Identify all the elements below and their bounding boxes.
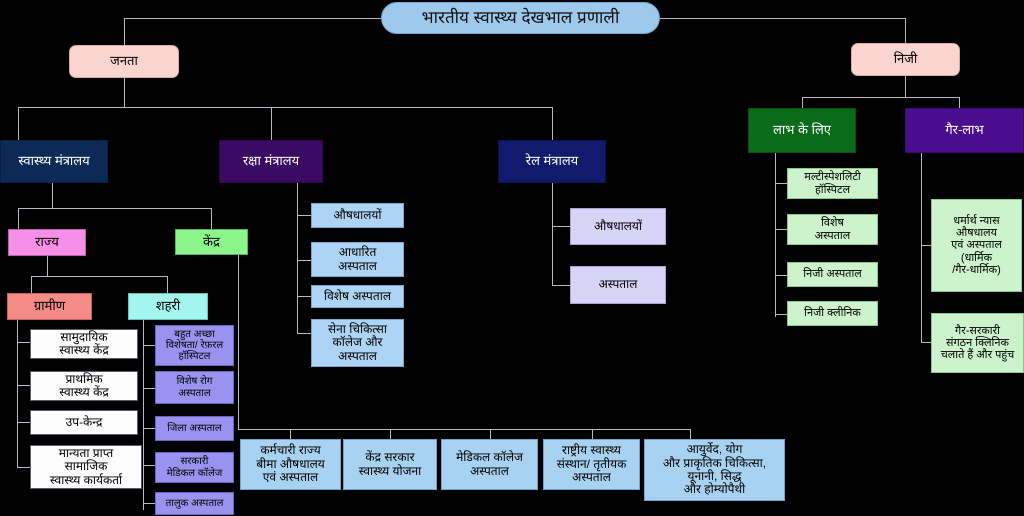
connector-centre-bottom-bus bbox=[238, 429, 690, 430]
for-profit-item-2[interactable]: विशेष अस्पताल bbox=[787, 214, 878, 245]
connector-bottom-to-item-3 bbox=[490, 429, 491, 439]
defence-item-3[interactable]: विशेष अस्पताल bbox=[311, 285, 404, 308]
connector-defence-stub-4 bbox=[297, 333, 311, 334]
connector-defence-stub-3 bbox=[297, 296, 311, 297]
connector-private-down bbox=[905, 76, 906, 97]
connector-state-bus bbox=[31, 276, 167, 277]
connector-root-left bbox=[124, 18, 381, 19]
non-profit-item-2[interactable]: गैर-सरकारी संगठन क्लिनिक चलाते हैं और पह… bbox=[931, 313, 1024, 373]
diagram-canvas: भारतीय स्वास्थ्य देखभाल प्रणाली जनता निज… bbox=[0, 0, 1024, 516]
for-profit-item-4[interactable]: निजी क्लीनिक bbox=[787, 301, 878, 326]
urban-item-1[interactable]: बहुत अच्छा विशेषता/ रेफ़रल हॉस्पिटल bbox=[155, 325, 234, 366]
connector-bottom-to-item-2 bbox=[390, 429, 391, 439]
connector-railway-stub-2 bbox=[552, 285, 570, 286]
urban-item-5[interactable]: तालुक अस्पताल bbox=[155, 492, 234, 515]
connector-rural-stub-2 bbox=[17, 385, 30, 386]
railway-item-2[interactable]: अस्पताल bbox=[570, 266, 666, 304]
connector-railway-trunk bbox=[552, 183, 553, 285]
for-profit-item-1[interactable]: मल्टीस्पेशलिटी हॉस्पिटल bbox=[787, 168, 878, 199]
rural-item-1[interactable]: सामुदायिक स्वास्थ्य केंद्र bbox=[30, 329, 138, 359]
connector-defence-stub-2 bbox=[297, 260, 311, 261]
connector-urban-stub-3 bbox=[143, 428, 155, 429]
connector-root-to-public bbox=[124, 18, 125, 45]
private-for-profit[interactable]: लाभ के लिए bbox=[748, 108, 856, 153]
centre-item-1[interactable]: कर्मचारी राज्य बीमा औषधालय एवं अस्पताल bbox=[240, 439, 341, 490]
connector-rural-stub-1 bbox=[17, 342, 30, 343]
defence-item-2[interactable]: आधारित अस्पताल bbox=[311, 242, 404, 277]
connector-forprofit-stub-1 bbox=[775, 183, 787, 184]
connector-defence-stub-1 bbox=[297, 215, 311, 216]
connector-bus-to-forprofit bbox=[802, 97, 803, 108]
defence-item-1[interactable]: औषधालयों bbox=[311, 203, 404, 228]
connector-forprofit-stub-4 bbox=[775, 314, 787, 315]
connector-bus-to-railway bbox=[552, 107, 553, 140]
ministry-defence[interactable]: रक्षा मंत्रालय bbox=[219, 140, 323, 183]
connector-ministries-bus bbox=[18, 107, 553, 108]
connector-bus-to-health bbox=[18, 107, 19, 140]
root-node[interactable]: भारतीय स्वास्थ्य देखभाल प्रणाली bbox=[381, 2, 660, 34]
connector-bus-to-nonprofit bbox=[959, 97, 960, 108]
connector-bottom-to-item-1 bbox=[290, 429, 291, 439]
for-profit-item-3[interactable]: निजी अस्पताल bbox=[787, 262, 878, 287]
connector-bottom-to-item-4 bbox=[592, 429, 593, 439]
connector-bottom-to-item-5 bbox=[690, 429, 691, 439]
connector-health-bus bbox=[18, 208, 212, 209]
rural-item-3[interactable]: उप-केन्द्र bbox=[30, 410, 138, 435]
urban-item-3[interactable]: जिला अस्पताल bbox=[155, 416, 234, 441]
connector-bus-to-urban bbox=[167, 276, 168, 293]
connector-urban-stub-4 bbox=[143, 465, 155, 466]
connector-urban-trunk bbox=[143, 320, 144, 510]
rural-item-4[interactable]: मान्यता प्राप्त सामाजिक स्वास्थ्य कार्यक… bbox=[30, 445, 142, 489]
branch-private[interactable]: निजी bbox=[851, 43, 960, 76]
connector-public-down bbox=[124, 78, 125, 107]
connector-forprofit-stub-2 bbox=[775, 229, 787, 230]
connector-bus-to-rural bbox=[31, 276, 32, 293]
connector-forprofit-stub-3 bbox=[775, 275, 787, 276]
connector-urban-stub-2 bbox=[143, 388, 155, 389]
centre-item-4[interactable]: राष्ट्रीय स्वास्थ्य संस्थान/ तृतीयक अस्प… bbox=[543, 439, 640, 490]
private-non-profit[interactable]: गैर-लाभ bbox=[905, 108, 1024, 153]
urban-item-4[interactable]: सरकारी मेडिकल कॉलेज bbox=[155, 452, 234, 483]
connector-bus-to-defence bbox=[271, 107, 272, 140]
connector-state-down bbox=[47, 256, 48, 276]
railway-item-1[interactable]: औषधालयों bbox=[570, 208, 666, 245]
connector-rural-stub-4 bbox=[17, 467, 30, 468]
ministry-railway[interactable]: रेल मंत्रालय bbox=[498, 140, 606, 183]
non-profit-item-1[interactable]: धर्मार्थ न्यास औषधालय एवं अस्पताल (धार्म… bbox=[931, 199, 1022, 292]
connector-rural-stub-3 bbox=[17, 422, 30, 423]
centre-item-2[interactable]: केंद्र सरकार स्वास्थ्य योजना bbox=[343, 439, 437, 490]
health-level-centre[interactable]: केंद्र bbox=[175, 229, 248, 255]
rural-item-2[interactable]: प्राथमिक स्वास्थ्य केंद्र bbox=[30, 371, 138, 401]
connector-nonprofit-stub-1 bbox=[921, 245, 931, 246]
connector-bus-to-state bbox=[18, 208, 19, 229]
connector-railway-stub-1 bbox=[552, 226, 570, 227]
connector-centre-trunk bbox=[238, 243, 239, 429]
ministry-health[interactable]: स्वास्थ्य मंत्रालय bbox=[0, 140, 108, 183]
health-level-state[interactable]: राज्य bbox=[8, 229, 86, 256]
connector-private-bus bbox=[802, 97, 959, 98]
connector-nonprofit-stub-2 bbox=[921, 342, 931, 343]
centre-item-3[interactable]: मेडिकल कॉलेज अस्पताल bbox=[441, 439, 538, 490]
connector-defence-trunk bbox=[297, 183, 298, 333]
connector-nonprofit-trunk bbox=[921, 152, 922, 342]
connector-forprofit-trunk bbox=[775, 152, 776, 317]
defence-item-4[interactable]: सेना चिकित्सा कॉलेज और अस्पताल bbox=[311, 319, 404, 367]
connector-urban-stub-1 bbox=[143, 345, 155, 346]
state-split-rural[interactable]: ग्रामीण bbox=[7, 293, 92, 320]
centre-item-5[interactable]: आयुर्वेद, योग और प्राकृतिक चिकित्सा, यून… bbox=[644, 439, 785, 501]
connector-bus-to-centre bbox=[211, 208, 212, 229]
urban-item-2[interactable]: विशेष रोग अस्पताल bbox=[155, 371, 234, 404]
connector-urban-stub-5 bbox=[143, 503, 155, 504]
connector-health-down bbox=[52, 183, 53, 208]
branch-public[interactable]: जनता bbox=[69, 45, 179, 78]
connector-root-to-private bbox=[905, 18, 906, 45]
connector-root-right bbox=[660, 18, 905, 19]
state-split-urban[interactable]: शहरी bbox=[128, 293, 208, 320]
